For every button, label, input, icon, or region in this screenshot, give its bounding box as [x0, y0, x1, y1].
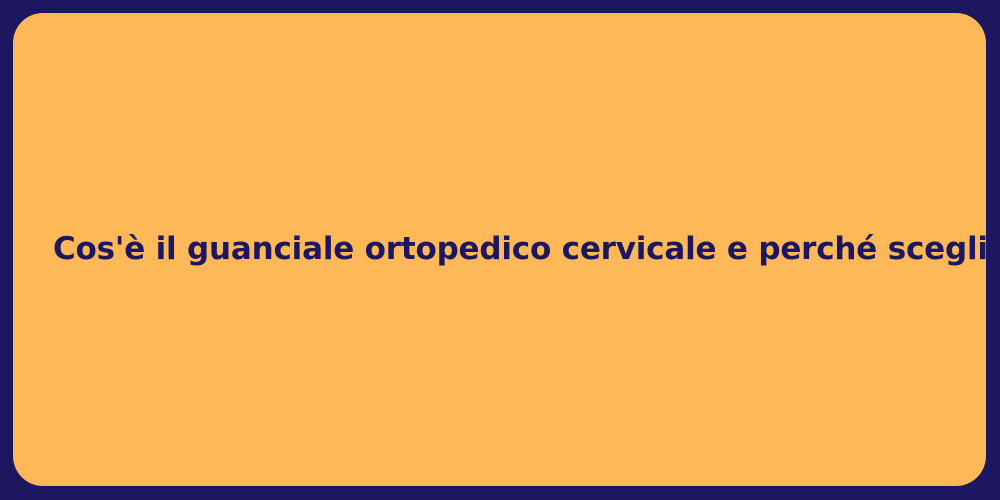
- page-title: Cos'è il guanciale ortopedico cervicale …: [53, 230, 946, 269]
- content-card: Cos'è il guanciale ortopedico cervicale …: [13, 13, 986, 486]
- page-frame: Cos'è il guanciale ortopedico cervicale …: [0, 0, 1000, 500]
- card-content-wrapper: Cos'è il guanciale ortopedico cervicale …: [13, 230, 986, 269]
